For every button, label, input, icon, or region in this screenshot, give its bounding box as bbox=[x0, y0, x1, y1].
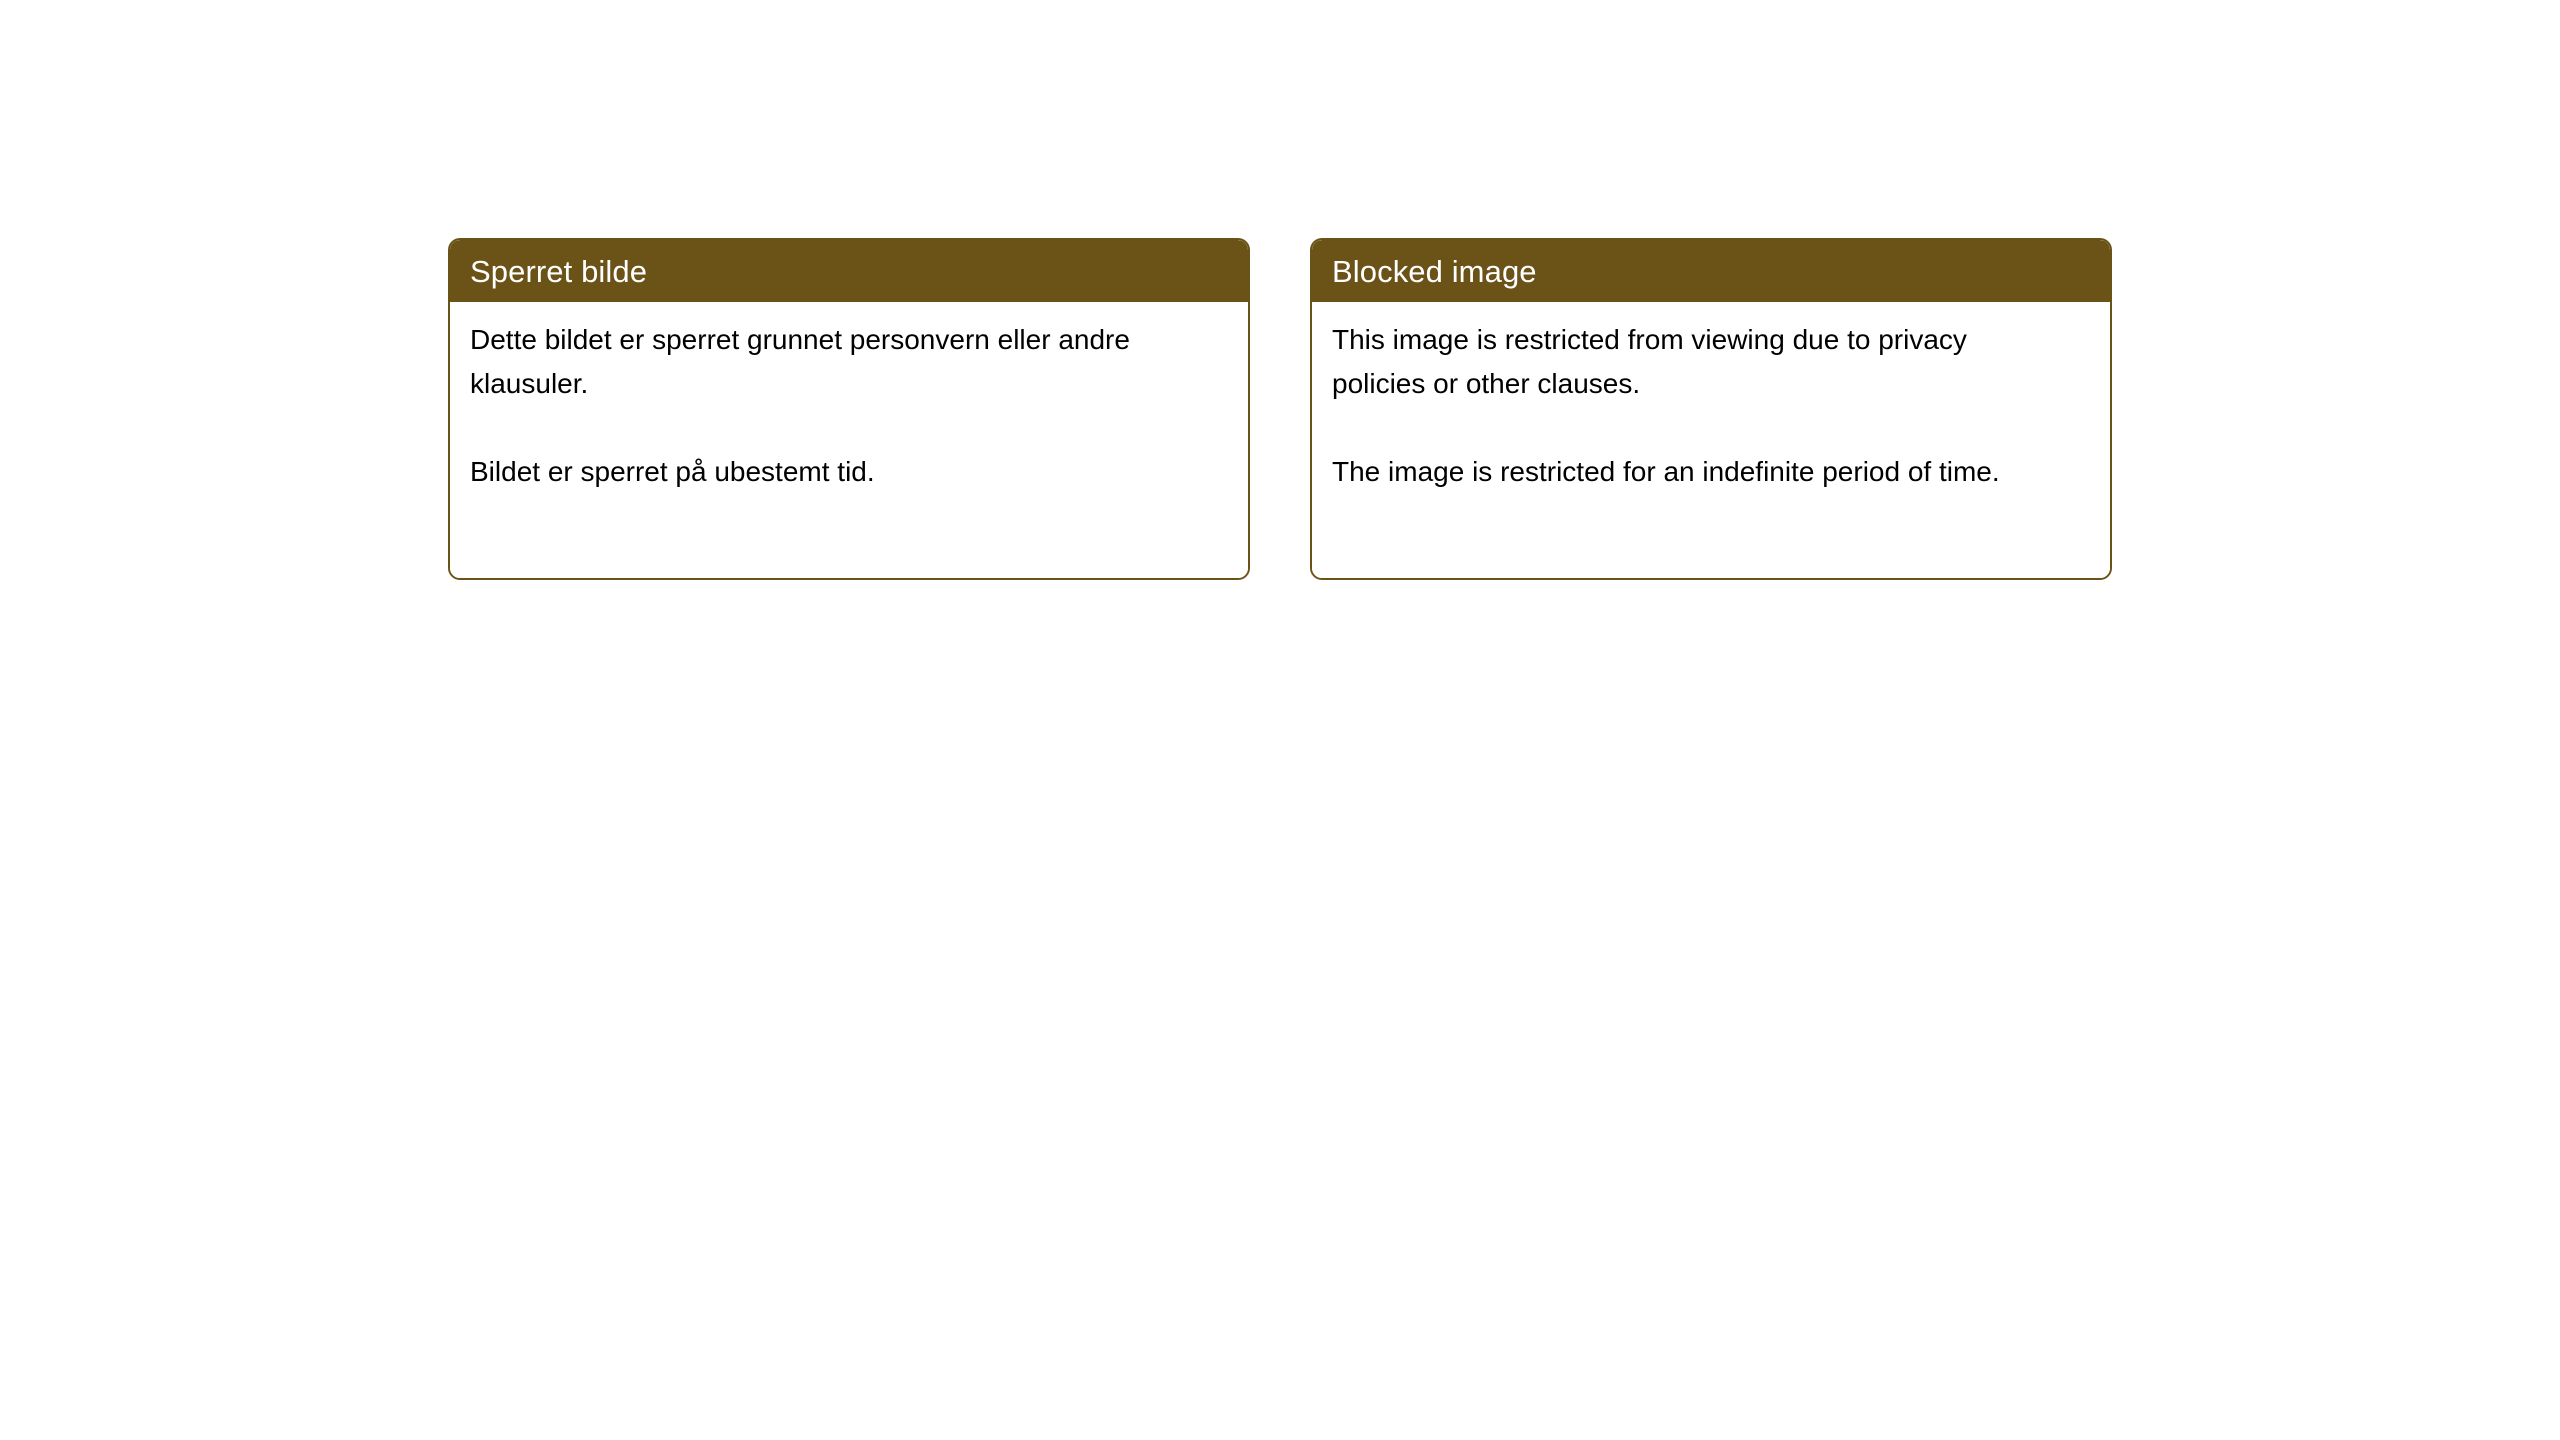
paragraph-spacer bbox=[470, 406, 1228, 450]
blocked-image-card-norwegian: Sperret bilde Dette bildet er sperret gr… bbox=[448, 238, 1250, 580]
card-body-english: This image is restricted from viewing du… bbox=[1312, 302, 2110, 578]
card-title-english: Blocked image bbox=[1332, 256, 1537, 287]
card-paragraph-secondary-english: The image is restricted for an indefinit… bbox=[1332, 450, 2052, 494]
card-body-norwegian: Dette bildet er sperret grunnet personve… bbox=[450, 302, 1248, 578]
card-header-english: Blocked image bbox=[1312, 240, 2110, 302]
paragraph-spacer bbox=[1332, 406, 2090, 450]
card-paragraph-secondary-norwegian: Bildet er sperret på ubestemt tid. bbox=[470, 450, 1190, 494]
card-paragraph-primary-english: This image is restricted from viewing du… bbox=[1332, 318, 2052, 406]
page-root: Sperret bilde Dette bildet er sperret gr… bbox=[0, 0, 2560, 1440]
card-header-norwegian: Sperret bilde bbox=[450, 240, 1248, 302]
blocked-image-card-english: Blocked image This image is restricted f… bbox=[1310, 238, 2112, 580]
card-paragraph-primary-norwegian: Dette bildet er sperret grunnet personve… bbox=[470, 318, 1190, 406]
card-title-norwegian: Sperret bilde bbox=[470, 256, 647, 287]
notice-cards-row: Sperret bilde Dette bildet er sperret gr… bbox=[448, 238, 2112, 580]
